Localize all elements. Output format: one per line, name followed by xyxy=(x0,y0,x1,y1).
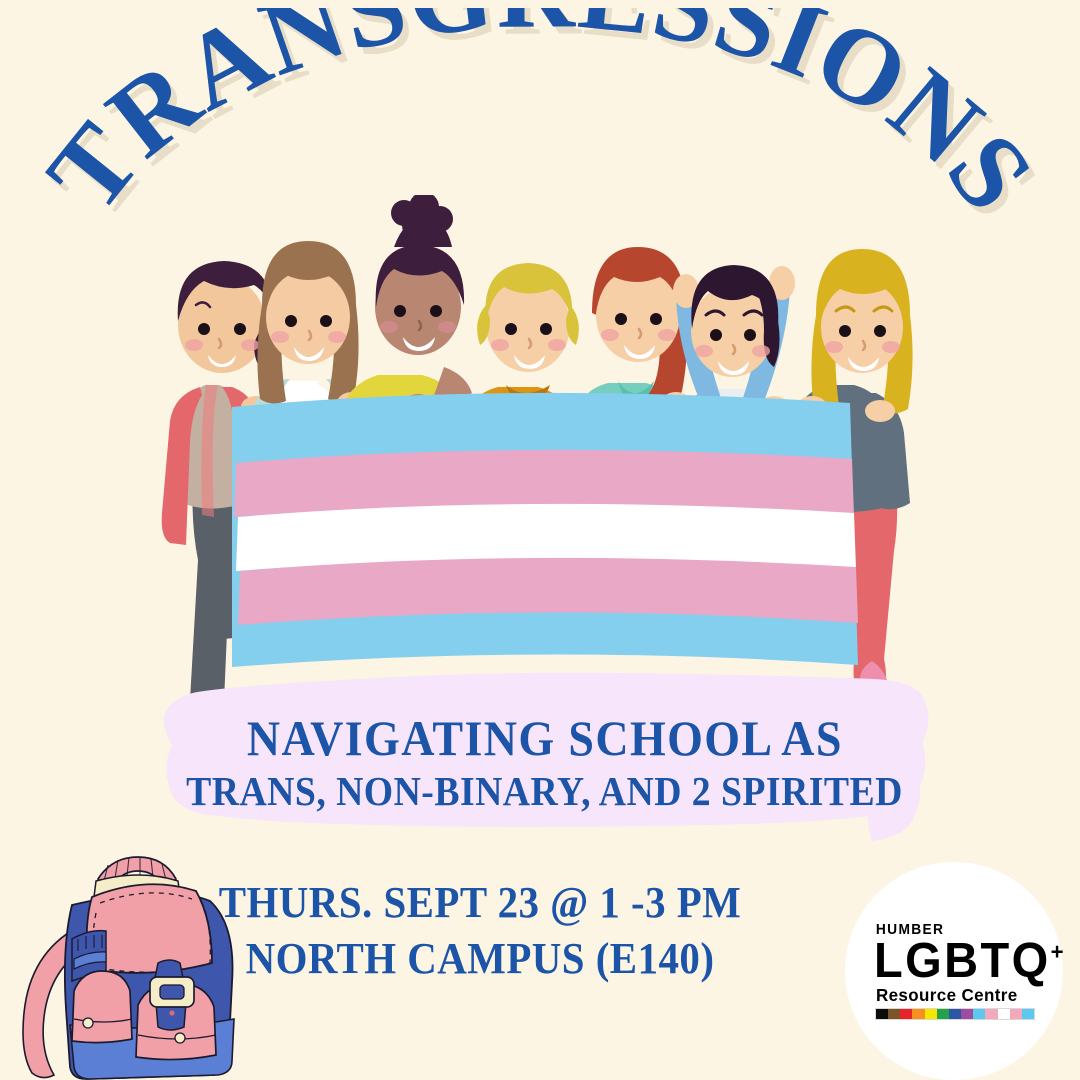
subtitle-line-2: TRANS, NON-BINARY, AND 2 SPIRITED xyxy=(187,770,904,813)
transgender-pride-flag xyxy=(232,393,858,667)
subtitle-block: NAVIGATING SCHOOL AS TRANS, NON-BINARY, … xyxy=(150,665,940,860)
logo-tagline: Resource Centre xyxy=(874,987,1029,1005)
pride-color-bar xyxy=(876,1009,1034,1019)
pride-bar-segment-12 xyxy=(1022,1009,1034,1019)
pride-bar-segment-6 xyxy=(949,1009,961,1019)
subtitle-line-1: NAVIGATING SCHOOL AS xyxy=(247,712,843,765)
pride-bar-segment-3 xyxy=(912,1009,924,1019)
logo-plus-sign: + xyxy=(1051,939,1064,965)
pride-bar-segment-2 xyxy=(900,1009,912,1019)
pride-bar-segment-0 xyxy=(876,1009,888,1019)
humber-lgbtq-resource-centre-logo: HUMBER LGBTQ+ Resource Centre xyxy=(845,862,1063,1080)
illustration-group-with-flag xyxy=(0,195,1080,695)
pride-bar-segment-10 xyxy=(998,1009,1010,1019)
pride-bar-segment-9 xyxy=(985,1009,997,1019)
pride-bar-segment-1 xyxy=(888,1009,900,1019)
backpack-svg xyxy=(10,835,270,1080)
pride-bar-segment-7 xyxy=(961,1009,973,1019)
pride-bar-segment-4 xyxy=(925,1009,937,1019)
logo-lgbtq-wordmark: LGBTQ+ xyxy=(874,938,1028,985)
poster-canvas: TRANSGRESSIONS TRANSGRESSIONS xyxy=(0,0,1080,1080)
school-backpack xyxy=(10,835,270,1080)
pride-bar-segment-8 xyxy=(973,1009,985,1019)
logo-lgbtq-letters: LGBTQ xyxy=(874,934,1051,988)
pride-bar-segment-5 xyxy=(937,1009,949,1019)
illustration-svg xyxy=(0,195,1080,695)
pride-bar-segment-11 xyxy=(1010,1009,1022,1019)
